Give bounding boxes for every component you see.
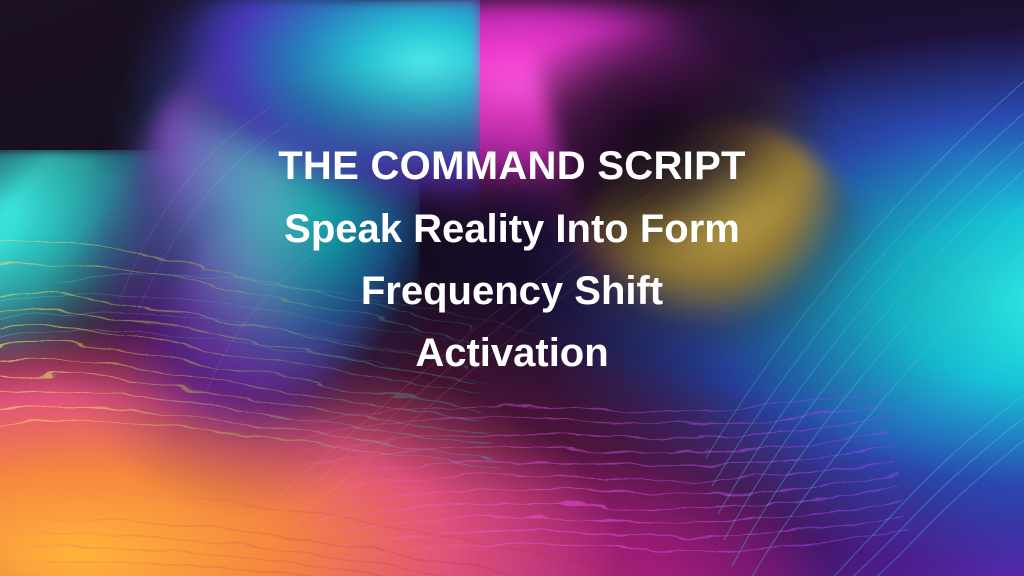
title-line-subtitle-1: Speak Reality Into Form: [0, 209, 1024, 249]
title-line-subtitle-2: Frequency Shift: [0, 271, 1024, 311]
title-line-headline: THE COMMAND SCRIPT: [0, 146, 1024, 186]
title-line-subtitle-3: Activation: [0, 333, 1024, 373]
title-block: THE COMMAND SCRIPT Speak Reality Into Fo…: [0, 146, 1024, 373]
title-card: THE COMMAND SCRIPT Speak Reality Into Fo…: [0, 0, 1024, 576]
